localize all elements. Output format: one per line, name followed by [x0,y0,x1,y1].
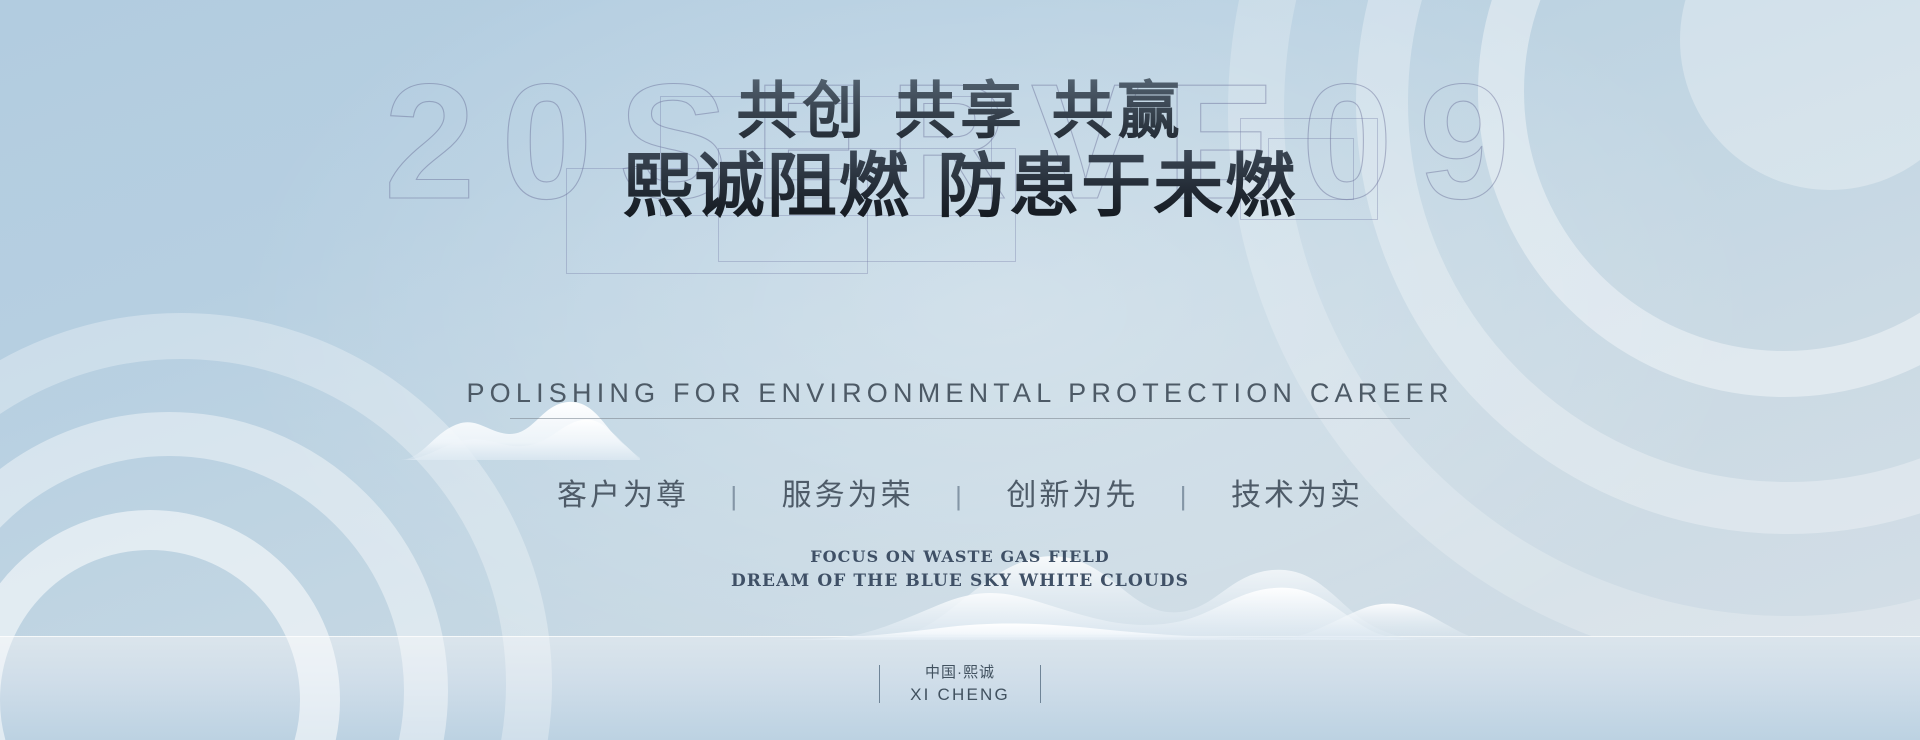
value-item-3: 创新为先 [1006,470,1138,514]
value-list: 客户为尊 | 服务为荣 | 创新为先 | 技术为实 [0,470,1920,514]
logo-chinese-name: 中国·熙诚 [910,662,1010,684]
value-separator-1: | [700,481,770,512]
english-tagline-underline [510,418,1410,419]
value-item-4: 技术为实 [1231,470,1363,514]
value-separator-2: | [925,481,995,512]
headline-primary: 共创 共享 共赢 [0,78,1920,143]
logo-rule-right [1040,665,1041,703]
logo-text: 中国·熙诚 XI CHENG [910,662,1010,707]
headline-block: 共创 共享 共赢 熙诚阻燃 防患于未燃 [0,78,1920,223]
value-separator-3: | [1150,481,1220,512]
english-tagline-text: POLISHING FOR ENVIRONMENTAL PROTECTION C… [466,378,1453,408]
subtext-line-1: FOCUS ON WASTE GAS FIELD [0,545,1920,569]
logo-english-name: XI CHENG [910,684,1010,707]
banner-canvas: 20SERVE09 [0,0,1920,740]
logo-rule-left [879,665,880,703]
banner-content: 共创 共享 共赢 熙诚阻燃 防患于未燃 POLISHING FOR ENVIRO… [0,0,1920,740]
subtext-line-2: DREAM OF THE BLUE SKY WHITE CLOUDS [0,569,1920,595]
subtext-block: FOCUS ON WASTE GAS FIELD DREAM OF THE BL… [0,545,1920,595]
value-item-2: 服务为荣 [782,470,914,514]
english-tagline: POLISHING FOR ENVIRONMENTAL PROTECTION C… [0,378,1920,419]
value-item-1: 客户为尊 [557,470,689,514]
headline-secondary: 熙诚阻燃 防患于未燃 [0,149,1920,223]
logo-lockup: 中国·熙诚 XI CHENG [0,662,1920,707]
